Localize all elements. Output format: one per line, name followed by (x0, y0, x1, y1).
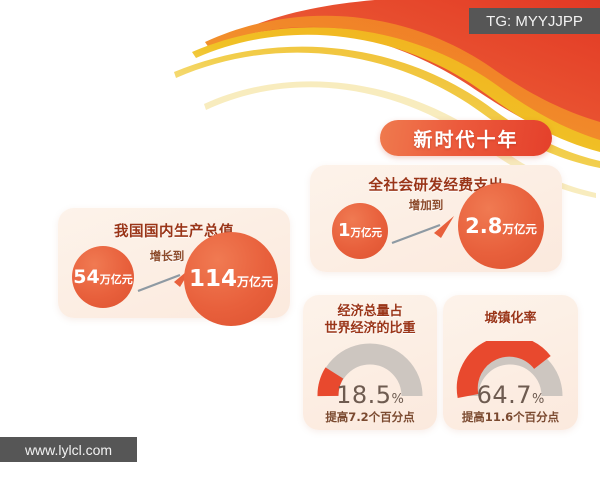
rnd-connector-label: 增加到 (390, 197, 462, 213)
rnd-from-value: 1 (338, 220, 351, 241)
gauge-2-title-line1: 城镇化率 (443, 311, 578, 328)
gauge-card-urbanization: 城镇化率 64.7% 提高11.6个百分点 (443, 295, 578, 430)
rnd-card: 全社会研发经费支出 1万亿元 增加到 2.8万亿元 (310, 165, 562, 272)
gdp-bubble-to: 114万亿元 (184, 232, 278, 326)
section-title-banner: 新时代十年 (380, 120, 552, 156)
gauge-1-note: 提高7.2个百分点 (303, 409, 437, 425)
gauge-1-percent-symbol: % (392, 392, 404, 407)
rnd-from-unit: 万亿元 (351, 227, 383, 239)
rnd-connector: 增加到 (390, 197, 462, 247)
gauge-1-title-line1: 经济总量占 (303, 304, 437, 321)
section-title-text: 新时代十年 (413, 125, 518, 152)
gauge-2-percent: 64.7% (443, 381, 578, 409)
gdp-to-unit: 万亿元 (237, 275, 273, 289)
gdp-bubble-from: 54万亿元 (72, 246, 134, 308)
infographic-canvas: 新时代十年 我国国内生产总值 54万亿元 增长到 114万亿元 全社会研发经费支… (0, 0, 600, 480)
gauge-2-note: 提高11.6个百分点 (443, 409, 578, 425)
gauge-1-title-line2: 世界经济的比重 (303, 321, 437, 338)
site-watermark-text: www.lylcl.com (25, 442, 112, 458)
gauge-1-percent-value: 18.5 (336, 381, 391, 409)
gauge-2-percent-symbol: % (532, 392, 544, 407)
gauge-2-percent-value: 64.7 (477, 381, 532, 409)
rnd-bubble-from: 1万亿元 (332, 203, 388, 259)
gdp-from-value: 54 (73, 266, 99, 288)
rnd-bubble-to: 2.8万亿元 (458, 183, 544, 269)
rnd-arrow-icon (390, 215, 462, 247)
telegram-watermark-text: TG: MYYJJPP (486, 13, 583, 30)
rnd-to-value: 2.8 (465, 214, 502, 238)
rnd-to-unit: 万亿元 (502, 222, 537, 236)
site-watermark: www.lylcl.com (0, 437, 137, 462)
telegram-watermark: TG: MYYJJPP (469, 8, 600, 34)
gauge-1-title: 经济总量占 世界经济的比重 (303, 304, 437, 337)
gauge-1-percent: 18.5% (303, 381, 437, 409)
gdp-card: 我国国内生产总值 54万亿元 增长到 114万亿元 (58, 208, 290, 318)
gdp-from-unit: 万亿元 (100, 273, 133, 286)
gauge-2-title: 城镇化率 (443, 311, 578, 328)
gauge-card-world-share: 经济总量占 世界经济的比重 18.5% 提高7.2个百分点 (303, 295, 437, 430)
gdp-to-value: 114 (189, 266, 237, 292)
